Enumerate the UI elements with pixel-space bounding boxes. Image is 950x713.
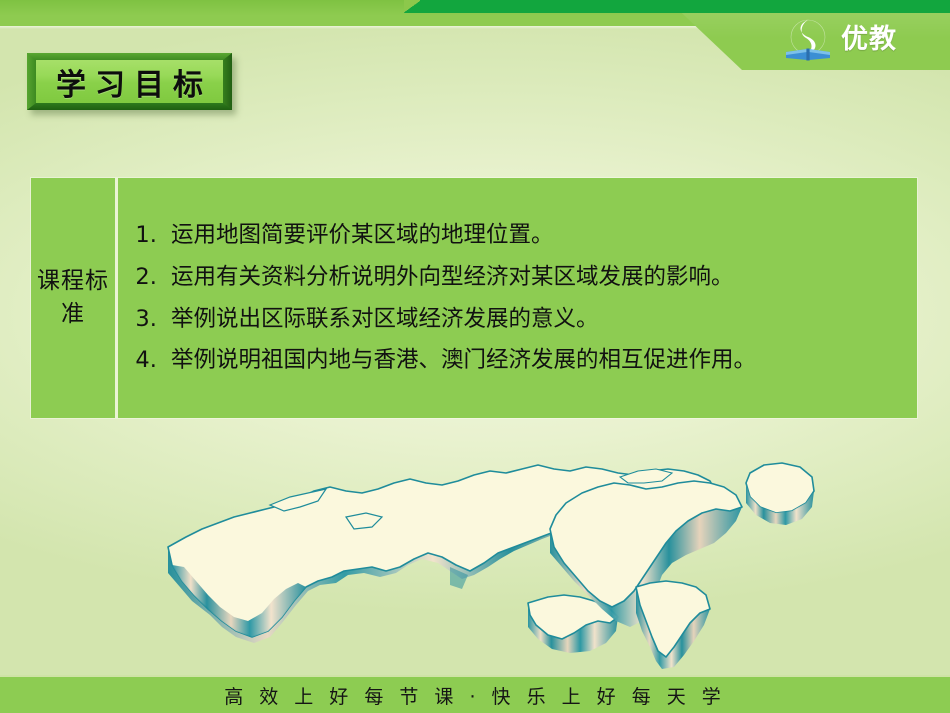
slide-title-plaque: 学习目标	[27, 53, 232, 110]
header-dark-bar	[420, 0, 950, 13]
curriculum-standards-list-cell: 运用地图简要评价某区域的地理位置。 运用有关资料分析说明外向型经济对某区域发展的…	[118, 178, 917, 418]
list-item: 举例说出区际联系对区域经济发展的意义。	[164, 306, 756, 333]
world-map-3d-illustration	[150, 455, 830, 670]
brand-logo[interactable]: 优教	[782, 16, 897, 62]
list-item: 举例说明祖国内地与香港、澳门经济发展的相互促进作用。	[164, 347, 756, 374]
curriculum-standards-label-cell: 课程标准	[31, 178, 118, 418]
page-title: 学习目标	[27, 53, 232, 110]
list-item: 运用地图简要评价某区域的地理位置。	[164, 222, 756, 249]
curriculum-standards-box: 课程标准 运用地图简要评价某区域的地理位置。 运用有关资料分析说明外向型经济对某…	[31, 178, 917, 418]
footer-slogan: 高 效 上 好 每 节 课 · 快 乐 上 好 每 天 学	[224, 682, 726, 709]
swirl-book-logo-icon	[782, 16, 834, 62]
list-item: 运用有关资料分析说明外向型经济对某区域发展的影响。	[164, 264, 756, 291]
curriculum-standards-label: 课程标准	[31, 265, 115, 330]
slide-root: 优教 学习目标 课程标准 运用地图简要评价某区域的地理位置。 运用有关资料分析说…	[0, 0, 950, 713]
brand-logo-text: 优教	[841, 26, 897, 53]
world-map-svg	[150, 455, 830, 670]
footer-bar: 高 效 上 好 每 节 课 · 快 乐 上 好 每 天 学	[0, 675, 950, 713]
goals-list: 运用地图简要评价某区域的地理位置。 运用有关资料分析说明外向型经济对某区域发展的…	[138, 222, 756, 373]
